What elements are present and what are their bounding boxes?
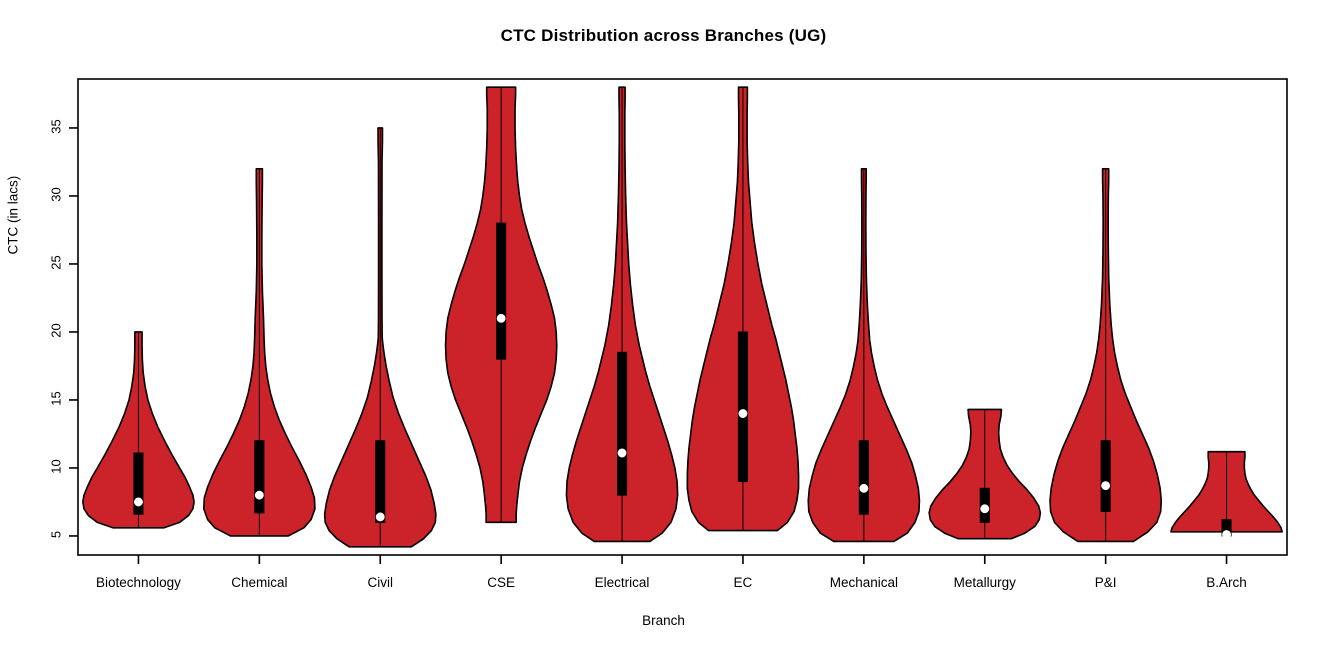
iqr-box (497, 223, 506, 359)
violin-electrical (566, 87, 677, 541)
median-point (255, 491, 263, 499)
median-point (739, 409, 747, 417)
x-tick-label-metallurgy: Metallurgy (954, 575, 1016, 590)
median-point (134, 498, 142, 506)
violin-cse (446, 87, 557, 522)
y-tick-label: 15 (49, 383, 64, 413)
x-tick-label-mechanical: Mechanical (830, 575, 898, 590)
median-point (981, 505, 989, 513)
median-point (618, 449, 626, 457)
violin-civil (325, 128, 436, 547)
median-point (860, 484, 868, 492)
iqr-box (859, 441, 868, 514)
median-point (1222, 530, 1230, 538)
x-tick-label-electrical: Electrical (595, 575, 650, 590)
y-tick-label: 25 (49, 247, 64, 277)
y-tick-label: 5 (49, 519, 64, 549)
plot-canvas (0, 0, 1327, 653)
violin-mechanical (808, 169, 919, 542)
violin-metallurgy (929, 409, 1040, 538)
violin-b-arch (1171, 452, 1282, 539)
x-tick-label-p-i: P&I (1095, 575, 1117, 590)
violin-plot-figure: CTC Distribution across Branches (UG) CT… (0, 0, 1327, 653)
violins-group (83, 87, 1282, 547)
x-tick-label-b-arch: B.Arch (1206, 575, 1247, 590)
x-tick-label-cse: CSE (487, 575, 515, 590)
violin-p-i (1050, 169, 1161, 542)
violin-ec (687, 87, 798, 530)
median-point (1101, 481, 1109, 489)
x-tick-label-civil: Civil (368, 575, 394, 590)
median-point (376, 513, 384, 521)
y-tick-label: 20 (49, 315, 64, 345)
x-tick-label-chemical: Chemical (231, 575, 287, 590)
x-tick-label-ec: EC (734, 575, 753, 590)
median-point (497, 314, 505, 322)
violin-chemical (204, 169, 315, 536)
y-tick-label: 30 (49, 179, 64, 209)
iqr-box (738, 332, 747, 482)
iqr-box (618, 352, 627, 495)
iqr-box (1101, 441, 1110, 512)
iqr-box (376, 441, 385, 523)
x-tick-label-biotechnology: Biotechnology (96, 575, 181, 590)
violin-biotechnology (83, 332, 194, 528)
iqr-box (255, 441, 264, 513)
y-tick-label: 35 (49, 111, 64, 141)
y-tick-label: 10 (49, 451, 64, 481)
